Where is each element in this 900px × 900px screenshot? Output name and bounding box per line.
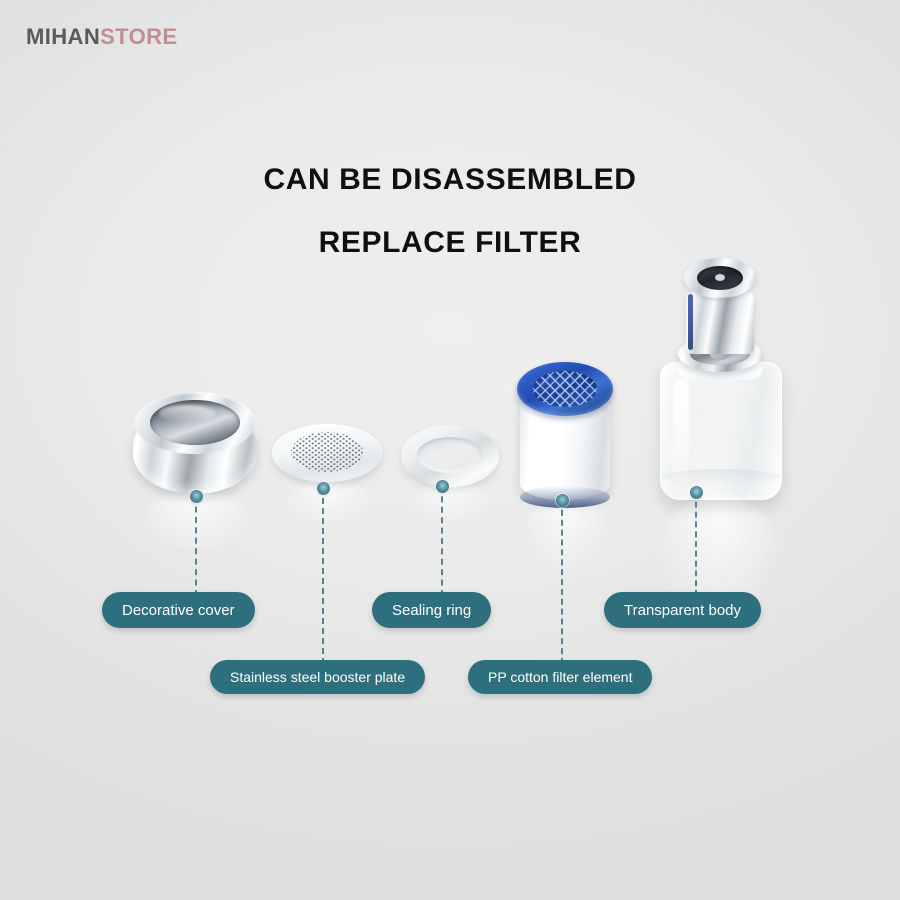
marker-dot-filter-element (556, 494, 569, 507)
part-decorative-cover (133, 392, 257, 504)
callout-label-transparent-body: Transparent body (624, 602, 741, 619)
callout-label-filter-element: PP cotton filter element (488, 669, 632, 685)
marker-dot-booster-plate (317, 482, 330, 495)
leader-line-booster-plate (322, 488, 324, 664)
leader-line-decorative-cover (195, 496, 197, 596)
filter-cap-mesh-icon (533, 371, 597, 407)
leader-line-sealing-ring (441, 486, 443, 596)
callout-transparent-body[interactable]: Transparent body (604, 592, 761, 628)
chrome-top-icon (684, 258, 756, 298)
callout-label-sealing-ring: Sealing ring (392, 602, 471, 619)
chrome-top-center-hole-icon (715, 274, 725, 281)
ring-hole-icon (417, 437, 483, 473)
leader-line-transparent-body (695, 492, 697, 596)
exploded-product-view: Decorative cover Stainless steel booster… (0, 0, 900, 900)
filter-grid-pattern-icon (533, 371, 597, 407)
cover-inner-icon (150, 400, 240, 445)
part-transparent-body (652, 258, 788, 508)
plate-mesh-icon (291, 432, 363, 472)
callout-booster-plate[interactable]: Stainless steel booster plate (210, 660, 425, 694)
callout-filter-element[interactable]: PP cotton filter element (468, 660, 652, 694)
blue-accent-stripe-icon (688, 294, 693, 350)
leader-line-filter-element (561, 500, 563, 664)
marker-dot-decorative-cover (190, 490, 203, 503)
callout-sealing-ring[interactable]: Sealing ring (372, 592, 491, 628)
callout-label-decorative-cover: Decorative cover (122, 602, 235, 619)
chrome-top-bore-icon (697, 266, 743, 290)
product-infographic: MIHANSTORE CAN BE DISASSEMBLED REPLACE F… (0, 0, 900, 900)
transparent-jar-icon (660, 362, 782, 500)
callout-decorative-cover[interactable]: Decorative cover (102, 592, 255, 628)
part-filter-element (517, 362, 613, 510)
callout-label-booster-plate: Stainless steel booster plate (230, 669, 405, 685)
chrome-neck-icon (686, 292, 754, 354)
part-sealing-ring (401, 425, 499, 495)
marker-dot-sealing-ring (436, 480, 449, 493)
marker-dot-transparent-body (690, 486, 703, 499)
